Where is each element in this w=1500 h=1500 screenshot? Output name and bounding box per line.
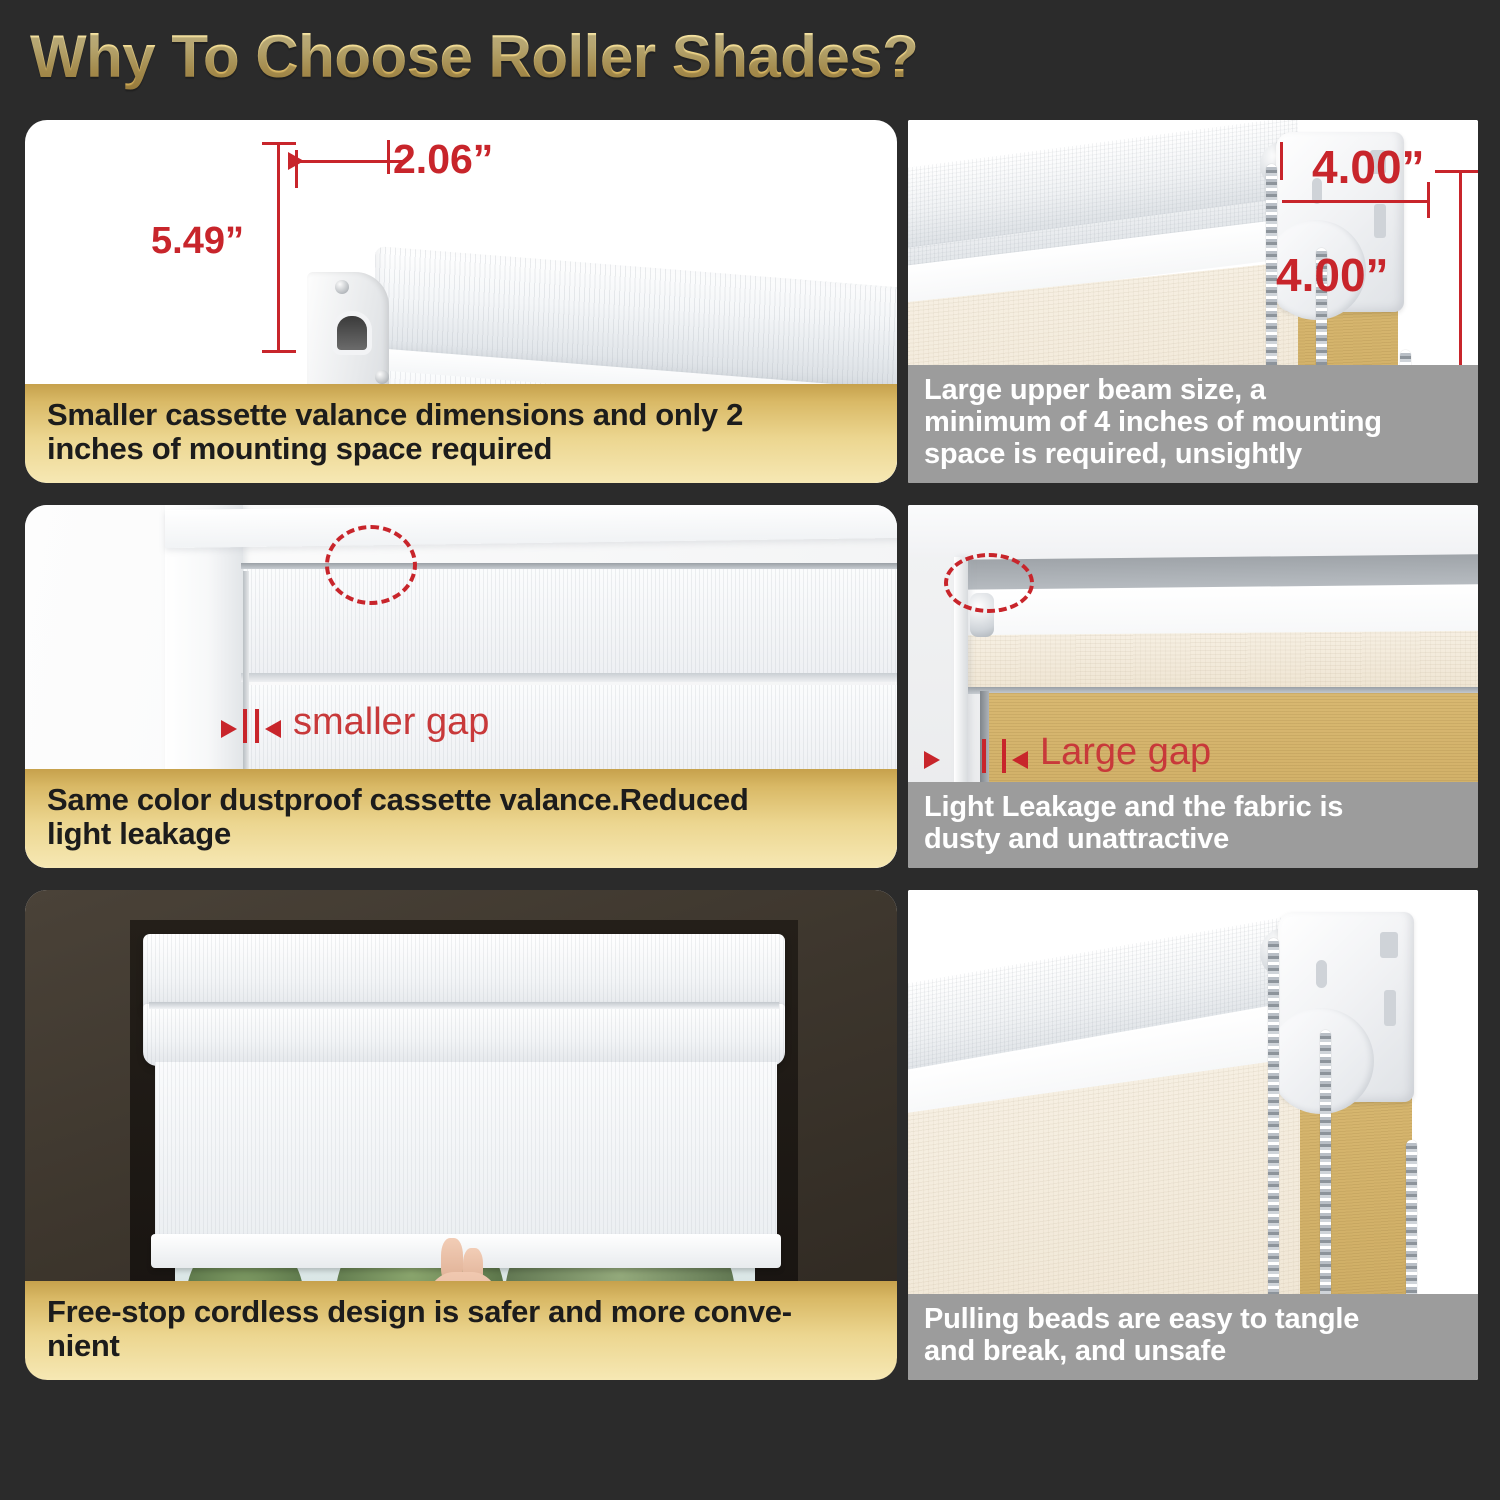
gap-arrow-right (265, 720, 281, 738)
bracket-screw-top (335, 280, 349, 294)
caption-line-2: minimum of 4 inches of mounting (924, 407, 1464, 439)
highlight-circle-gap (325, 525, 417, 605)
beam-dim-h-tick-top (1435, 170, 1478, 173)
gap-arrow-left (924, 751, 940, 769)
infographic-page: Why To Choose Roller Shades? 2.06” (0, 0, 1500, 1500)
gap-tick-b (255, 709, 259, 743)
fabric-cream-band (960, 631, 1478, 694)
bracket-slot-top (1380, 932, 1398, 958)
panel-cassette-valance-dimensions: 2.06” 5.49” Smaller cassette valance dim… (25, 120, 897, 483)
gap-tick-b (1002, 739, 1006, 773)
bracket-slot (337, 316, 367, 350)
caption-panel-2: Large upper beam size, a minimum of 4 in… (908, 365, 1478, 483)
dim-width-right-ext (387, 140, 390, 174)
panel-large-upper-beam: 4.00” 4.00” Large upper beam size, a min… (908, 120, 1478, 483)
upper-wall-band (908, 505, 1478, 557)
caption-line-3: space is required, unsightly (924, 439, 1464, 471)
bracket-slot-mid (1374, 204, 1386, 238)
caption-line-1: Large upper beam size, a (924, 375, 1464, 407)
bracket-slot-mid (1384, 990, 1396, 1026)
caption-panel-1: Smaller cassette valance dimensions and … (25, 384, 897, 483)
caption-line-2: inches of mounting space required (47, 432, 877, 467)
shade-fabric-panel (155, 1062, 777, 1238)
gap-label-smaller: smaller gap (293, 701, 489, 744)
beam-dim-w-line (1282, 200, 1430, 203)
valance-lower-roll (143, 1004, 785, 1066)
dim-width-arrow-left (288, 152, 304, 170)
gap-label-large: Large gap (1040, 731, 1211, 774)
caption-panel-3: Same color dustproof cassette valance.Re… (25, 769, 897, 868)
bracket-slot-inner (1316, 960, 1327, 988)
caption-panel-4: Light Leakage and the fabric is dusty an… (908, 782, 1478, 868)
gap-arrow-left (221, 720, 237, 738)
panel-light-leakage-dusty-fabric: Large gap Light Leakage and the fabric i… (908, 505, 1478, 868)
caption-line-2: nient (47, 1329, 877, 1364)
gap-arrow-right (1012, 751, 1028, 769)
caption-line-2: light leakage (47, 817, 877, 852)
caption-line-1: Pulling beads are easy to tangle (924, 1304, 1464, 1336)
dimension-label-beam-width: 4.00” (1312, 140, 1425, 194)
caption-line-2: and break, and unsafe (924, 1336, 1464, 1368)
gap-tick-a (243, 709, 247, 743)
dim-height-tick-top (262, 142, 296, 145)
caption-line-1: Smaller cassette valance dimensions and … (47, 398, 877, 433)
caption-line-2: dusty and unattractive (924, 824, 1464, 856)
valance-seam (149, 1002, 779, 1009)
dimension-label-width: 2.06” (393, 136, 493, 183)
gap-tick-a (982, 739, 986, 773)
panel-dustproof-cassette-valance: smaller gap Same color dustproof cassett… (25, 505, 897, 868)
panel-pulling-beads-tangle: Pulling beads are easy to tangle and bre… (908, 890, 1478, 1380)
caption-panel-5: Free-stop cordless design is safer and m… (25, 1281, 897, 1380)
beam-dim-w-ext-right (1427, 182, 1430, 218)
dimension-label-beam-height: 4.00” (1276, 248, 1389, 302)
dim-height-tick-bottom (262, 350, 296, 353)
dim-height-line-b (277, 230, 280, 352)
beam-dim-w-ext-left (1280, 142, 1283, 180)
caption-line-1: Same color dustproof cassette valance.Re… (47, 783, 877, 818)
panel-free-stop-cordless-design: Free-stop cordless design is safer and m… (25, 890, 897, 1380)
dimension-label-height: 5.49” (151, 220, 244, 263)
caption-line-1: Free-stop cordless design is safer and m… (47, 1295, 877, 1330)
highlight-circle-gap (944, 553, 1034, 613)
bracket-screw-mid (375, 370, 389, 384)
caption-line-1: Light Leakage and the fabric is (924, 792, 1464, 824)
caption-panel-6: Pulling beads are easy to tangle and bre… (908, 1294, 1478, 1380)
valance-bottom-edge (241, 673, 897, 682)
panel-grid: 2.06” 5.49” Smaller cassette valance dim… (0, 0, 1500, 1500)
